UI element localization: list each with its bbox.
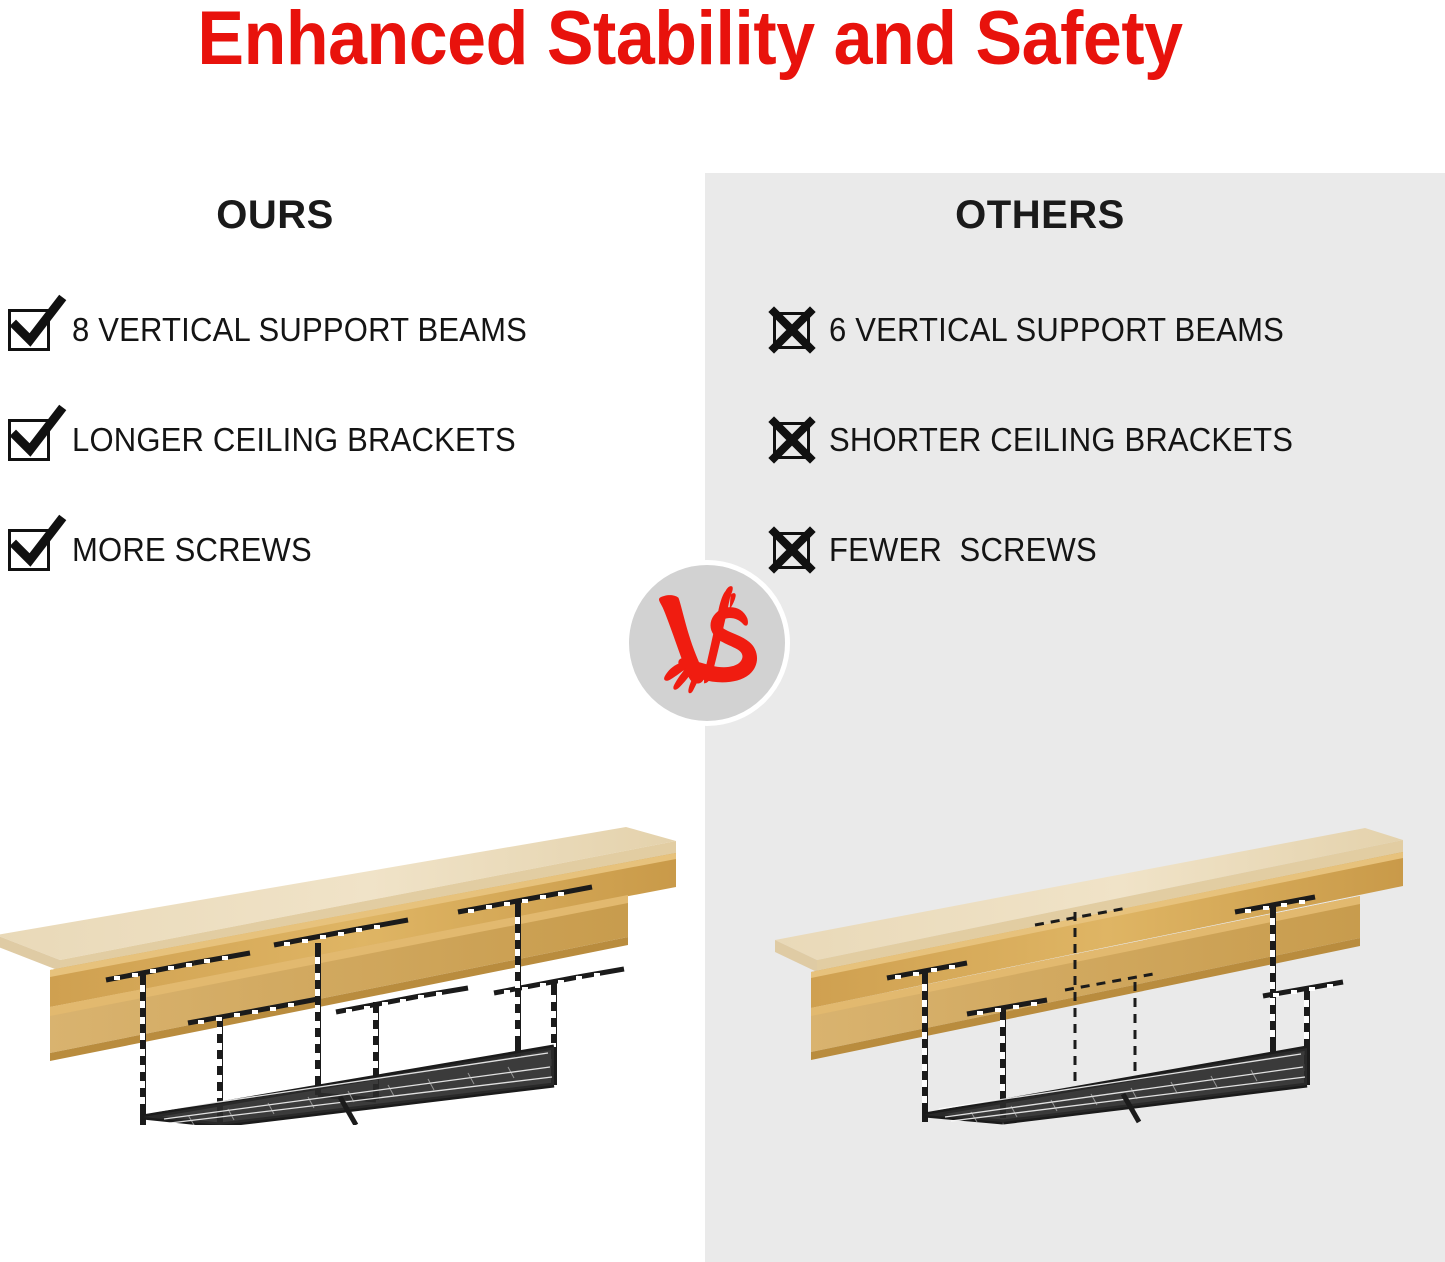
feature-list-ours: 8 VERTICAL SUPPORT BEAMS LONGER CEILING … bbox=[0, 275, 705, 605]
page-title: Enhanced Stability and Safety bbox=[55, 0, 1325, 81]
feature-row: 6 VERTICAL SUPPORT BEAMS bbox=[705, 275, 1445, 385]
column-heading-others: OTHERS bbox=[705, 193, 1445, 238]
feature-row: MORE SCREWS bbox=[0, 495, 705, 605]
checkbox-crossed-icon bbox=[773, 532, 810, 569]
product-image-ours bbox=[0, 795, 678, 1125]
feature-label: FEWER SCREWS bbox=[829, 531, 1097, 569]
feature-row: 8 VERTICAL SUPPORT BEAMS bbox=[0, 275, 705, 385]
check-glyph bbox=[10, 409, 64, 463]
column-heading-ours: OURS bbox=[0, 193, 705, 238]
feature-label: 6 VERTICAL SUPPORT BEAMS bbox=[829, 311, 1284, 349]
feature-row: LONGER CEILING BRACKETS bbox=[0, 385, 705, 495]
product-image-others bbox=[735, 800, 1405, 1125]
vs-brush-icon bbox=[648, 584, 766, 702]
feature-row: FEWER SCREWS bbox=[705, 495, 1445, 605]
feature-row: SHORTER CEILING BRACKETS bbox=[705, 385, 1445, 495]
checkbox-checked-icon bbox=[8, 529, 50, 571]
cross-glyph bbox=[769, 417, 815, 463]
feature-list-others: 6 VERTICAL SUPPORT BEAMS SHORTER CEILING… bbox=[705, 275, 1445, 605]
feature-label: 8 VERTICAL SUPPORT BEAMS bbox=[72, 311, 527, 349]
cross-glyph bbox=[769, 527, 815, 573]
ceiling-storage-rack-8-beams-illustration bbox=[0, 795, 678, 1125]
vs-badge bbox=[624, 560, 790, 726]
checkbox-crossed-icon bbox=[773, 422, 810, 459]
feature-label: SHORTER CEILING BRACKETS bbox=[829, 421, 1293, 459]
cross-glyph bbox=[769, 307, 815, 353]
ceiling-storage-rack-6-beams-illustration bbox=[735, 800, 1405, 1125]
checkbox-checked-icon bbox=[8, 419, 50, 461]
feature-label: LONGER CEILING BRACKETS bbox=[72, 421, 516, 459]
feature-label: MORE SCREWS bbox=[72, 531, 312, 569]
checkbox-crossed-icon bbox=[773, 312, 810, 349]
check-glyph bbox=[10, 519, 64, 573]
check-glyph bbox=[10, 299, 64, 353]
checkbox-checked-icon bbox=[8, 309, 50, 351]
